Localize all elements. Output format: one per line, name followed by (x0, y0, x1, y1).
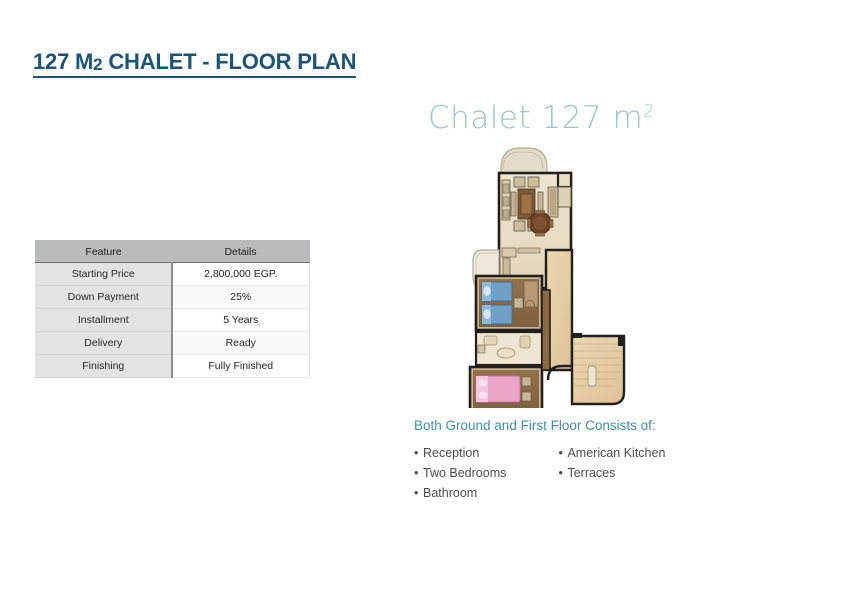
table-row: Finishing Fully Finished (36, 355, 310, 378)
list-item-label: Reception (423, 446, 479, 460)
column-header-feature: Feature (36, 241, 172, 263)
cell-feature: Delivery (36, 332, 172, 355)
bathroom (476, 332, 542, 365)
list-item-label: American Kitchen (567, 446, 665, 460)
bedroom-one (476, 276, 542, 330)
cell-value: 2,800,000 EGP. (172, 263, 310, 286)
bullet-icon: • (414, 483, 423, 503)
list-item-label: Bathroom (423, 486, 477, 500)
table-row: Down Payment 25% (36, 286, 310, 309)
spec-table-container: Feature Details Starting Price 2,800,000… (35, 240, 307, 378)
list-item: •Reception (414, 443, 554, 463)
column-header-details: Details (172, 241, 310, 263)
terrace-upper (558, 187, 571, 207)
cell-value: 25% (172, 286, 310, 309)
table-row: Starting Price 2,800,000 EGP. (36, 263, 310, 286)
consists-heading: Both Ground and First Floor Consists of: (414, 418, 656, 433)
features-list: •Reception •Two Bedrooms •Bathroom •Amer… (414, 443, 704, 503)
features-column-right: •American Kitchen •Terraces (558, 443, 703, 483)
page-title-superscript: 2 (93, 55, 102, 74)
table-row: Delivery Ready (36, 332, 310, 355)
list-item: •Two Bedrooms (414, 463, 554, 483)
bullet-icon: • (414, 463, 423, 483)
cell-value: Ready (172, 332, 310, 355)
floorplan-heading: Chalet 127 m2 (428, 100, 655, 136)
floorplan-drawing (462, 140, 634, 408)
american-kitchen-furniture (502, 180, 510, 220)
page-title-rest: CHALET - FLOOR PLAN (102, 49, 356, 74)
floorplan-image (462, 140, 634, 408)
spec-table: Feature Details Starting Price 2,800,000… (35, 240, 310, 378)
list-item-label: Terraces (567, 466, 615, 480)
bedroom-two (470, 367, 542, 408)
bullet-icon: • (414, 443, 423, 463)
cell-value: 5 Years (172, 309, 310, 332)
list-item: •Terraces (558, 463, 703, 483)
features-column-left: •Reception •Two Bedrooms •Bathroom (414, 443, 554, 503)
page-title: 127 M2 CHALET - FLOOR PLAN (33, 50, 356, 78)
table-header-row: Feature Details (36, 241, 310, 263)
cell-feature: Finishing (36, 355, 172, 378)
cell-feature: Down Payment (36, 286, 172, 309)
floorplan-heading-superscript: 2 (643, 102, 654, 122)
floorplan-heading-text: Chalet 127 m (428, 100, 643, 136)
list-item: •Bathroom (414, 483, 554, 503)
spec-table-body: Starting Price 2,800,000 EGP. Down Payme… (36, 263, 310, 378)
list-item-label: Two Bedrooms (423, 466, 506, 480)
list-item: •American Kitchen (558, 443, 703, 463)
cell-feature: Starting Price (36, 263, 172, 286)
spec-table-head: Feature Details (36, 241, 310, 263)
cell-value: Fully Finished (172, 355, 310, 378)
page-title-main: 127 M (33, 49, 93, 74)
cell-feature: Installment (36, 309, 172, 332)
table-row: Installment 5 Years (36, 309, 310, 332)
